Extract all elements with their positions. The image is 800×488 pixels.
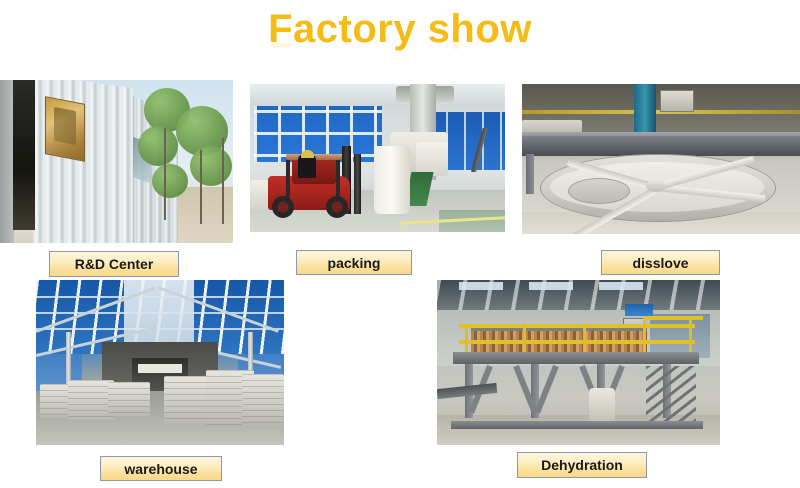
driver-helmet xyxy=(301,150,314,158)
factory-show-page: Factory show Factory show xyxy=(0,0,800,488)
photo-disslove[interactable] xyxy=(522,84,800,234)
caption-packing: packing xyxy=(296,250,412,275)
tree-trunk xyxy=(164,128,166,220)
photo-warehouse[interactable] xyxy=(36,280,284,445)
tank-inspection-disc xyxy=(568,178,630,204)
caption-disslove: disslove xyxy=(601,250,720,275)
safety-rail-post xyxy=(583,324,586,352)
safety-rail-post xyxy=(643,320,646,352)
beam-support-post xyxy=(526,154,534,194)
tree-canopy xyxy=(152,164,188,198)
tree-trunk xyxy=(200,150,202,224)
safety-rail-mid xyxy=(459,340,695,344)
caption-warehouse-text: warehouse xyxy=(124,461,197,477)
forklift-wheel xyxy=(326,196,348,218)
caption-rd-center: R&D Center xyxy=(49,251,179,277)
page-title-block: Factory show Factory show xyxy=(0,6,800,56)
disslove-scene xyxy=(522,84,800,234)
wall-edge-panel xyxy=(0,80,14,243)
packing-hopper-secondary xyxy=(416,142,448,176)
packing-scene xyxy=(250,84,505,232)
bag-stack xyxy=(108,382,150,416)
concrete-base xyxy=(451,421,703,429)
tree-group xyxy=(138,80,233,230)
steel-beam-main xyxy=(522,136,800,156)
rd-center-scene xyxy=(0,80,233,243)
warehouse-scene xyxy=(36,280,284,445)
workshop-roof xyxy=(250,84,505,106)
tank-center-hub xyxy=(646,180,666,192)
safety-rail-post xyxy=(689,316,692,354)
equipment-sign xyxy=(625,304,653,316)
safety-rail-post xyxy=(523,324,526,352)
roof-skylight xyxy=(529,282,573,290)
steel-platform xyxy=(453,352,699,364)
roof-purlin xyxy=(36,312,284,314)
safety-rail-post xyxy=(465,324,468,352)
caption-dehydration-text: Dehydration xyxy=(541,457,623,473)
safety-rail-top xyxy=(459,324,695,328)
teal-column xyxy=(634,84,656,136)
caption-packing-text: packing xyxy=(328,255,381,271)
roof-purlin xyxy=(36,296,284,298)
safety-rail-stair xyxy=(643,316,703,320)
access-stairs xyxy=(646,366,696,422)
inclined-conveyor xyxy=(455,128,505,172)
photo-dehydration[interactable] xyxy=(437,280,720,445)
tree-trunk xyxy=(222,138,224,224)
caption-warehouse: warehouse xyxy=(100,456,222,481)
control-panel xyxy=(660,90,694,112)
page-title-reflection: Factory show xyxy=(0,34,800,56)
warehouse-sign xyxy=(138,364,182,373)
caption-dehydration: Dehydration xyxy=(517,452,647,478)
caption-disslove-text: disslove xyxy=(632,255,688,271)
forklift xyxy=(268,144,380,218)
tree-canopy xyxy=(190,146,232,186)
dark-wall-strip xyxy=(13,80,35,230)
caption-rd-center-text: R&D Center xyxy=(75,256,154,272)
photo-rd-center[interactable] xyxy=(0,80,233,243)
forklift-mast-rail xyxy=(354,154,361,214)
roof-skylight xyxy=(459,282,503,290)
forklift-wheel xyxy=(272,196,294,218)
rd-center-plaque xyxy=(45,96,85,162)
photo-packing[interactable] xyxy=(250,84,505,232)
dehydration-scene xyxy=(437,280,720,445)
roof-purlin xyxy=(36,328,284,330)
tree-canopy xyxy=(138,126,178,166)
bag-stack xyxy=(242,374,284,426)
roof-skylight xyxy=(599,282,643,290)
